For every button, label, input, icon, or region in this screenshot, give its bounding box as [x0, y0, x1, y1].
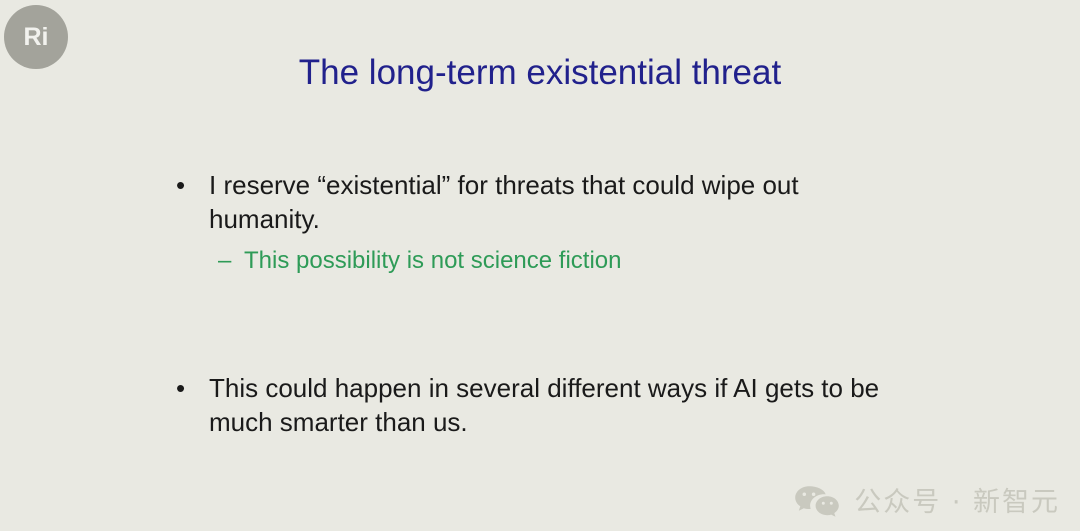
watermark: 公众号 · 新智元: [794, 485, 1060, 519]
sub-bullet-text: This possibility is not science fiction: [244, 245, 848, 277]
watermark-text: 公众号 · 新智元: [854, 489, 1060, 516]
avatar-initials: Ri: [24, 25, 49, 50]
bullet-row: • This could happen in several different…: [176, 371, 900, 439]
bullet-marker-icon: •: [176, 371, 209, 405]
slide-body: • I reserve “existential” for threats th…: [176, 168, 936, 439]
presentation-slide: Ri The long-term existential threat • I …: [0, 0, 1080, 531]
bullet-text: This could happen in several different w…: [209, 371, 900, 439]
bullet-item: • I reserve “existential” for threats th…: [176, 168, 848, 277]
wechat-icon: [794, 485, 840, 519]
slide-title: The long-term existential threat: [0, 52, 1080, 94]
bullet-marker-icon: •: [176, 168, 209, 202]
bullet-row: • I reserve “existential” for threats th…: [176, 168, 848, 236]
sub-bullet-row: – This possibility is not science fictio…: [218, 245, 848, 277]
sub-bullet-marker-icon: –: [218, 245, 244, 277]
bullet-text: I reserve “existential” for threats that…: [209, 168, 848, 236]
spacer: [176, 277, 936, 371]
bullet-item: • This could happen in several different…: [176, 371, 900, 439]
